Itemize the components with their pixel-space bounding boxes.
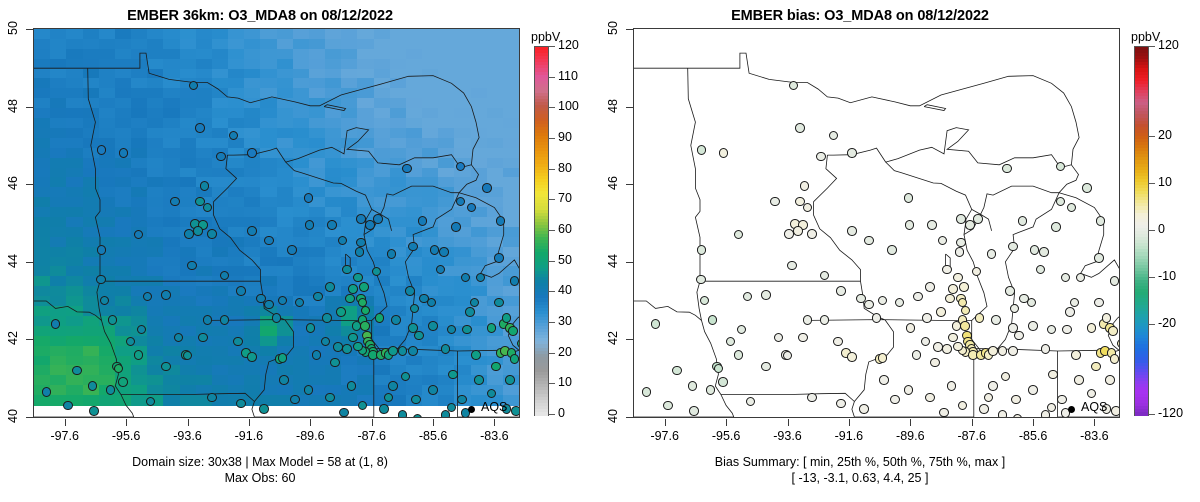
colorbar-tick-label: 0 <box>1158 222 1165 236</box>
caption-model-line1: Domain size: 30x38 | Max Model = 58 at (… <box>0 455 520 469</box>
panel-model-title: EMBER 36km: O3_MDA8 on 08/12/2022 <box>0 8 520 24</box>
observation-point <box>247 148 257 158</box>
colorbar-tick <box>1148 324 1155 325</box>
observation-point <box>405 286 415 296</box>
colorbar-tick <box>548 383 555 384</box>
colorbar-tick <box>548 199 555 200</box>
colorbar-tick-label: 40 <box>558 283 572 297</box>
observation-point <box>304 385 314 395</box>
x-tick <box>972 419 973 426</box>
bias-point <box>953 342 963 352</box>
bias-point <box>1111 406 1119 416</box>
observation-point <box>278 353 288 363</box>
observation-point <box>333 342 343 352</box>
bias-point <box>912 350 922 360</box>
bias-point <box>859 404 869 414</box>
observation-point <box>418 216 428 226</box>
x-tick <box>849 419 850 426</box>
observation-point <box>441 344 451 354</box>
colorbar-tick <box>548 107 555 108</box>
bias-point <box>761 290 771 300</box>
observation-point <box>327 220 337 230</box>
bias-point <box>922 313 932 323</box>
x-tick-label: -93.6 <box>158 429 218 443</box>
colorbar-tick <box>548 138 555 139</box>
observation-point <box>198 333 208 343</box>
colorbar-tick-label: 120 <box>1158 38 1179 52</box>
observation-point <box>339 408 349 418</box>
bias-point <box>975 313 985 323</box>
x-tick <box>433 419 434 426</box>
bias-point <box>1071 350 1081 360</box>
x-tick <box>1094 419 1095 426</box>
observation-point <box>305 220 315 230</box>
x-tick <box>188 419 189 426</box>
x-tick-label: -87.6 <box>342 429 402 443</box>
observation-point <box>398 346 408 356</box>
observation-point <box>290 395 300 405</box>
bias-point <box>1041 410 1051 417</box>
bias-point <box>1074 375 1084 385</box>
x-tick-label: -91.6 <box>219 429 279 443</box>
bias-point <box>1019 294 1029 304</box>
observation-point <box>428 385 438 395</box>
observation-point <box>474 375 484 385</box>
observation-point <box>264 300 274 310</box>
observation-point <box>207 393 217 403</box>
observation-point <box>375 313 385 323</box>
observation-point <box>42 387 52 397</box>
observation-point <box>106 385 116 395</box>
observation-point <box>72 366 82 376</box>
observation-point <box>494 298 504 308</box>
observation-point <box>388 346 398 356</box>
observation-point <box>342 344 352 354</box>
colorbar-tick <box>1148 414 1155 415</box>
y-tick <box>626 339 633 340</box>
observation-point <box>200 181 210 191</box>
observation-point <box>247 226 257 236</box>
colorbar-tick-label: 10 <box>1158 175 1172 189</box>
bias-point <box>663 401 673 411</box>
bias-point <box>991 315 1001 325</box>
y-tick <box>626 184 633 185</box>
observation-point <box>287 245 297 255</box>
bias-point <box>820 315 830 325</box>
colorbar-tick-label: 70 <box>558 191 572 205</box>
observation-point <box>379 404 389 414</box>
x-tick <box>372 419 373 426</box>
x-tick-label: -89.6 <box>280 429 340 443</box>
observation-point <box>313 292 323 302</box>
colorbar-tick <box>1148 230 1155 231</box>
observation-point <box>306 323 316 333</box>
observation-point <box>353 273 363 283</box>
observation-point <box>96 275 106 285</box>
bias-point <box>718 377 728 387</box>
bias-point <box>948 284 958 294</box>
y-tick <box>626 29 633 30</box>
observation-point <box>259 404 269 414</box>
bias-point <box>689 406 699 416</box>
x-tick <box>65 419 66 426</box>
observation-point <box>118 377 128 387</box>
y-tick-label: 48 <box>6 95 20 117</box>
bias-point <box>847 352 857 362</box>
colorbar-tick-label: 100 <box>558 99 579 113</box>
colorbar-tick <box>548 322 555 323</box>
bias-point <box>879 375 889 385</box>
observation-point <box>348 284 358 294</box>
observation-point <box>247 352 257 362</box>
x-tick <box>310 419 311 426</box>
bias-point <box>651 319 661 329</box>
y-tick-label: 50 <box>6 17 20 39</box>
colorbar-tick-label: 20 <box>1158 128 1172 142</box>
x-tick-label: -85.6 <box>403 429 463 443</box>
observation-point <box>471 350 481 360</box>
bias-point <box>1018 216 1028 226</box>
bias-point <box>836 399 846 409</box>
x-tick <box>249 419 250 426</box>
observation-point <box>353 342 363 352</box>
y-tick <box>26 339 33 340</box>
colorbar-unit-model: ppbV <box>531 30 560 44</box>
x-tick <box>910 419 911 426</box>
observation-point <box>236 399 246 409</box>
bias-point <box>979 404 989 414</box>
bias-point <box>952 321 962 331</box>
observation-point <box>264 236 274 246</box>
colorbar-tick <box>1148 183 1155 184</box>
bias-point <box>696 275 706 285</box>
observation-point <box>322 313 332 323</box>
bias-point <box>936 307 946 317</box>
observation-point <box>336 307 346 317</box>
observation-point <box>428 321 438 331</box>
observation-point <box>108 315 118 325</box>
bias-point <box>1108 326 1118 336</box>
bias-point <box>847 148 857 158</box>
bias-point <box>904 193 914 203</box>
observation-point <box>207 229 217 239</box>
bias-point <box>816 152 826 162</box>
observation-point <box>193 226 203 236</box>
observation-point <box>355 247 365 257</box>
colorbar-tick <box>548 261 555 262</box>
observation-point <box>508 326 518 336</box>
bias-point <box>939 408 949 418</box>
bias-point <box>784 229 794 239</box>
bias-point <box>706 385 716 395</box>
x-tick-label: -83.6 <box>1064 429 1124 443</box>
bias-point <box>1008 346 1018 356</box>
x-tick-label: -93.6 <box>758 429 818 443</box>
bias-point <box>761 362 771 372</box>
observation-point <box>408 346 418 356</box>
y-tick-label: 42 <box>606 327 620 349</box>
bias-point <box>925 282 935 292</box>
bias-point <box>798 333 808 343</box>
observation-point <box>482 183 492 193</box>
colorbar-tick-label: -20 <box>1158 316 1176 330</box>
bias-point <box>1041 344 1051 354</box>
bias-point <box>956 214 966 224</box>
bias-point <box>1110 276 1119 286</box>
observation-point <box>491 362 501 372</box>
x-tick-label: -87.6 <box>942 429 1002 443</box>
y-tick <box>26 29 33 30</box>
observation-point <box>216 152 226 162</box>
observation-point <box>517 339 519 349</box>
observation-point <box>487 323 497 333</box>
y-tick-label: 44 <box>6 250 20 272</box>
observation-point <box>419 294 429 304</box>
x-tick-label: -89.6 <box>880 429 940 443</box>
observation-point <box>465 307 475 317</box>
bias-point <box>864 300 874 310</box>
bias-point <box>836 286 846 296</box>
bias-point <box>956 238 966 248</box>
bias-point <box>905 220 915 230</box>
caption-bias-line2: [ -13, -3.1, 0.63, 4.4, 25 ] <box>600 471 1120 485</box>
bias-point <box>1039 247 1049 257</box>
bias-point <box>927 220 937 230</box>
caption-bias-line1: Bias Summary: [ min, 25th %, 50th %, 75t… <box>600 455 1120 469</box>
x-tick <box>494 419 495 426</box>
bias-point <box>998 410 1008 417</box>
observation-point <box>272 313 282 323</box>
colorbar-tick-label: -120 <box>1158 406 1183 420</box>
x-tick <box>788 419 789 426</box>
x-tick-label: -97.6 <box>635 429 695 443</box>
colorbar-tick <box>1148 46 1155 47</box>
observation-point <box>356 214 366 224</box>
observation-point <box>510 276 519 286</box>
colorbar-tick-label: 0 <box>558 406 565 420</box>
bias-point <box>803 315 813 325</box>
bias-point <box>1008 242 1018 252</box>
observation-point <box>360 321 370 331</box>
bias-point <box>878 353 888 363</box>
observation-point <box>448 370 458 380</box>
observation-point <box>203 315 213 325</box>
aqs-legend-label-bias: AQS <box>1081 400 1107 414</box>
observation-point <box>325 282 335 292</box>
colorbar-segment <box>1135 412 1148 416</box>
colorbar-tick-label: 20 <box>558 345 572 359</box>
bias-point <box>800 181 810 191</box>
y-tick-label: 42 <box>6 327 20 349</box>
bias-point <box>697 145 707 155</box>
bias-point <box>1065 307 1075 317</box>
x-tick-label: -97.6 <box>35 429 95 443</box>
y-tick <box>626 262 633 263</box>
bias-point <box>1051 222 1061 232</box>
bias-point <box>1117 339 1119 349</box>
observation-point <box>365 220 375 230</box>
observation-point <box>233 337 243 347</box>
observation-point <box>494 253 504 263</box>
observation-point <box>279 375 289 385</box>
bias-point <box>1110 354 1119 364</box>
observation-point <box>134 350 144 360</box>
bias-point <box>872 313 882 323</box>
observation-point <box>398 410 408 417</box>
y-tick-label: 40 <box>606 405 620 427</box>
bias-point <box>930 358 940 368</box>
bias-point <box>988 346 998 356</box>
bias-point <box>1082 183 1092 193</box>
x-tick <box>1033 419 1034 426</box>
observation-point <box>359 282 369 292</box>
colorbar-tick <box>548 414 555 415</box>
panel-bias: EMBER bias: O3_MDA8 on 08/12/2022 AQS -9… <box>600 0 1200 502</box>
caption-model-line2: Max Obs: 60 <box>0 471 520 485</box>
colorbar-tick-label: 10 <box>558 375 572 389</box>
observation-point <box>161 290 171 300</box>
bias-point <box>913 292 923 302</box>
bias-point <box>965 220 975 230</box>
bias-point <box>807 393 817 403</box>
colorbar-strip <box>534 46 549 416</box>
bias-point <box>1005 286 1015 296</box>
y-tick-label: 44 <box>606 250 620 272</box>
observation-point <box>88 381 98 391</box>
observation-point <box>387 249 397 259</box>
bias-point <box>793 226 803 236</box>
x-tick <box>126 419 127 426</box>
y-tick-label: 46 <box>6 172 20 194</box>
bias-point <box>833 337 843 347</box>
panel-bias-title: EMBER bias: O3_MDA8 on 08/12/2022 <box>600 8 1120 24</box>
colorbar-tick <box>548 353 555 354</box>
colorbar-tick <box>1148 136 1155 137</box>
y-tick <box>26 417 33 418</box>
observation-point <box>63 401 73 411</box>
bias-point <box>953 273 963 283</box>
bias-point <box>987 249 997 259</box>
bias-point <box>1094 253 1104 263</box>
observation-point <box>505 375 515 385</box>
bias-point <box>807 229 817 239</box>
colorbar-tick <box>548 77 555 78</box>
x-tick-label: -95.6 <box>696 429 756 443</box>
bias-point <box>942 344 952 354</box>
colorbar-tick-label: 80 <box>558 161 572 175</box>
observation-point <box>388 381 398 391</box>
observation-point <box>312 350 322 360</box>
x-tick-label: -85.6 <box>1003 429 1063 443</box>
y-tick-label: 46 <box>606 172 620 194</box>
colorbar-tick-label: 30 <box>558 314 572 328</box>
observation-point <box>184 229 194 239</box>
aqs-legend-marker-bias <box>1068 406 1075 413</box>
map-area-bias <box>634 29 1119 417</box>
bias-point <box>795 123 805 133</box>
x-tick-label: -91.6 <box>819 429 879 443</box>
x-tick <box>726 419 727 426</box>
observation-point <box>51 319 61 329</box>
colorbar-tick-label: 60 <box>558 222 572 236</box>
colorbar-tick-label: 50 <box>558 253 572 267</box>
observation-point <box>462 325 472 335</box>
y-tick <box>26 107 33 108</box>
x-tick <box>665 419 666 426</box>
colorbar-tick-label: 110 <box>558 69 578 83</box>
bias-point <box>904 385 914 395</box>
bias-point <box>708 315 718 325</box>
bias-point <box>887 245 897 255</box>
observation-point <box>408 242 418 252</box>
observation-point <box>511 406 519 416</box>
bias-point <box>960 321 970 331</box>
observation-point <box>89 406 99 416</box>
bias-point <box>1048 370 1058 380</box>
bias-point <box>906 323 916 333</box>
bias-point <box>1105 375 1115 385</box>
observation-point <box>236 286 246 296</box>
bias-point <box>734 350 744 360</box>
y-tick-label: 40 <box>6 405 20 427</box>
colorbar-tick <box>548 169 555 170</box>
observation-point <box>330 358 340 368</box>
observation-point <box>510 354 519 364</box>
observation-point <box>352 321 362 331</box>
observation-point <box>161 362 171 372</box>
bias-point <box>988 381 998 391</box>
bias-point <box>1061 273 1071 283</box>
x-tick-label: -95.6 <box>96 429 156 443</box>
y-tick-label: 50 <box>606 17 620 39</box>
y-tick <box>626 107 633 108</box>
colorbar-strip <box>1134 46 1149 416</box>
observation-point <box>441 410 451 417</box>
colorbar-tick-label: 120 <box>558 38 579 52</box>
bias-point <box>1087 323 1097 333</box>
figure-root: EMBER 36km: O3_MDA8 on 08/12/2022 AQS -9… <box>0 0 1200 502</box>
observation-point <box>391 315 401 325</box>
bias-point <box>1062 325 1072 335</box>
colorbar-tick-label: -10 <box>1158 269 1176 283</box>
panel-model: EMBER 36km: O3_MDA8 on 08/12/2022 AQS -9… <box>0 0 600 502</box>
colorbar-tick <box>548 291 555 292</box>
observation-point <box>220 315 230 325</box>
observation-point <box>195 123 205 133</box>
y-tick <box>26 184 33 185</box>
bias-point <box>688 381 698 391</box>
bias-point <box>1094 298 1104 308</box>
observation-point <box>97 145 107 155</box>
colorbar-unit-bias: ppbV <box>1131 30 1160 44</box>
bias-point <box>642 387 652 397</box>
aqs-legend-label-model: AQS <box>481 400 507 414</box>
bias-point <box>890 395 900 405</box>
bias-point <box>1028 321 1038 331</box>
colorbar-tick-label: 90 <box>558 130 572 144</box>
colorbar-tick <box>1148 277 1155 278</box>
y-tick-label: 48 <box>606 95 620 117</box>
bias-point <box>847 226 857 236</box>
aqs-legend-marker-model <box>468 406 475 413</box>
bias-point <box>864 236 874 246</box>
colorbar-segment <box>535 412 548 416</box>
map-area-model <box>34 29 519 417</box>
y-tick <box>626 417 633 418</box>
bias-point <box>955 247 965 257</box>
observation-point <box>439 247 449 257</box>
x-tick-label: -83.6 <box>464 429 524 443</box>
